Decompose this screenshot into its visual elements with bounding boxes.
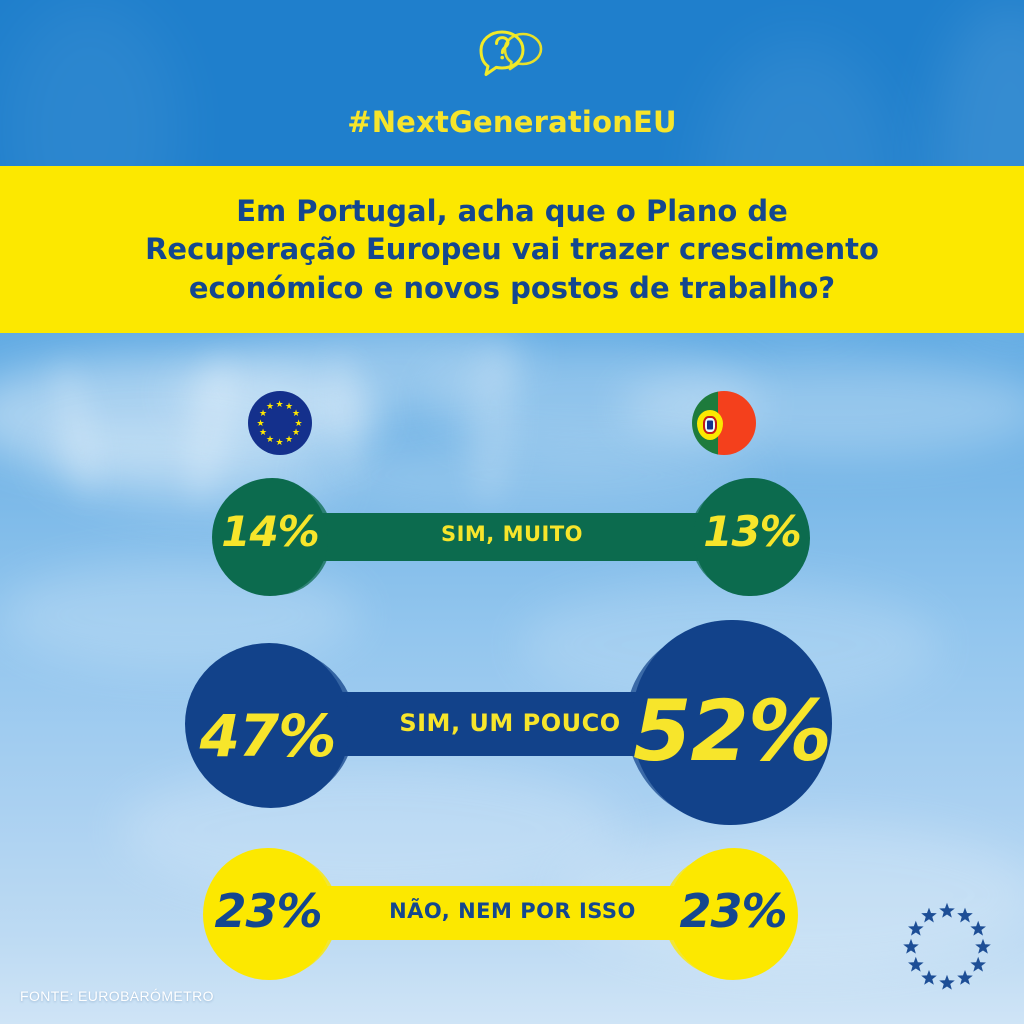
eu-logo-star: [939, 975, 955, 990]
eu-stars-logo: [893, 893, 1001, 1001]
eu-logo-star: [975, 939, 991, 954]
eu-logo-star: [908, 957, 924, 972]
portugal-percentage: 52%: [632, 682, 832, 780]
eu-logo-star: [921, 908, 937, 923]
eu-logo-star: [908, 921, 924, 936]
eu-percentage: 47%: [185, 702, 350, 770]
eu-logo-star: [939, 903, 955, 918]
eu-logo-star: [970, 921, 986, 936]
result-row-sim-um-pouco: 47% SIM, UM POUCO 52%: [0, 620, 1024, 825]
eu-logo-star: [921, 970, 937, 985]
portugal-percentage: 13%: [694, 507, 810, 556]
source-caption: FONTE: EUROBARÓMETRO: [20, 988, 214, 1004]
eu-logo-star: [957, 970, 973, 985]
result-row-sim-muito: 14% SIM, MUITO 13%: [0, 478, 1024, 596]
row-label: NÃO, NEM POR ISSO: [315, 899, 710, 923]
row-label: SIM, MUITO: [312, 522, 712, 546]
infographic-poster: #NextGenerationEU Em Portugal, acha que …: [0, 0, 1024, 1024]
result-row-nao-nem-por-isso: 23% NÃO, NEM POR ISSO 23%: [0, 848, 1024, 980]
eu-logo-star: [970, 957, 986, 972]
row-label: SIM, UM POUCO: [340, 709, 680, 737]
eu-logo-star: [957, 908, 973, 923]
eu-percentage: 23%: [203, 884, 333, 938]
eu-logo-star: [903, 939, 919, 954]
portugal-percentage: 23%: [668, 884, 798, 938]
results-chart: 14% SIM, MUITO 13% 47% SIM, UM POUCO 52%…: [0, 0, 1024, 1024]
eu-percentage: 14%: [212, 507, 328, 556]
